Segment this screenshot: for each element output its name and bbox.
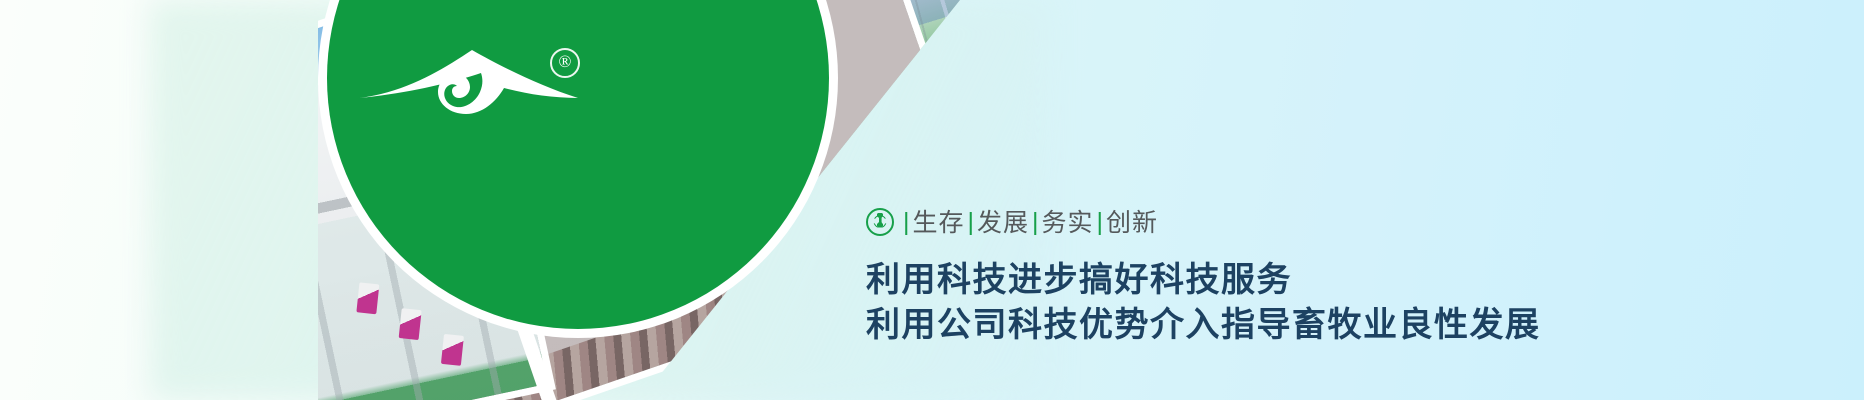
green-circle-seal-icon <box>866 208 894 236</box>
brand-circle: ® <box>318 0 838 338</box>
tagline-separator: | <box>968 210 975 235</box>
hero-banner: ® | 生存 | 发展 | 务实 | 创新 利用科技进步搞好科技服务 利用公司科… <box>0 0 1864 400</box>
headline-line-2: 利用公司科技优势介入指导畜牧业良性发展 <box>866 303 1626 348</box>
tagline-word-1: 生存 <box>913 210 965 235</box>
tagline: | 生存 | 发展 | 务实 | 创新 <box>866 208 1626 236</box>
control-panel <box>0 297 28 400</box>
registered-trademark-icon: ® <box>550 48 580 78</box>
tagline-separator: | <box>1032 210 1039 235</box>
warning-label-icon <box>23 247 53 274</box>
tagline-word-2: 发展 <box>977 210 1029 235</box>
product-pouch <box>441 334 464 366</box>
wave-bird-logo-icon <box>354 40 584 132</box>
copy-block: | 生存 | 发展 | 务实 | 创新 利用科技进步搞好科技服务 利用公司科技优… <box>866 208 1626 348</box>
tagline-word-3: 务实 <box>1042 210 1094 235</box>
tagline-word-4: 创新 <box>1106 210 1158 235</box>
headline-line-1: 利用科技进步搞好科技服务 <box>866 258 1626 303</box>
tagline-separator: | <box>903 210 910 235</box>
tagline-separator: | <box>1097 210 1104 235</box>
